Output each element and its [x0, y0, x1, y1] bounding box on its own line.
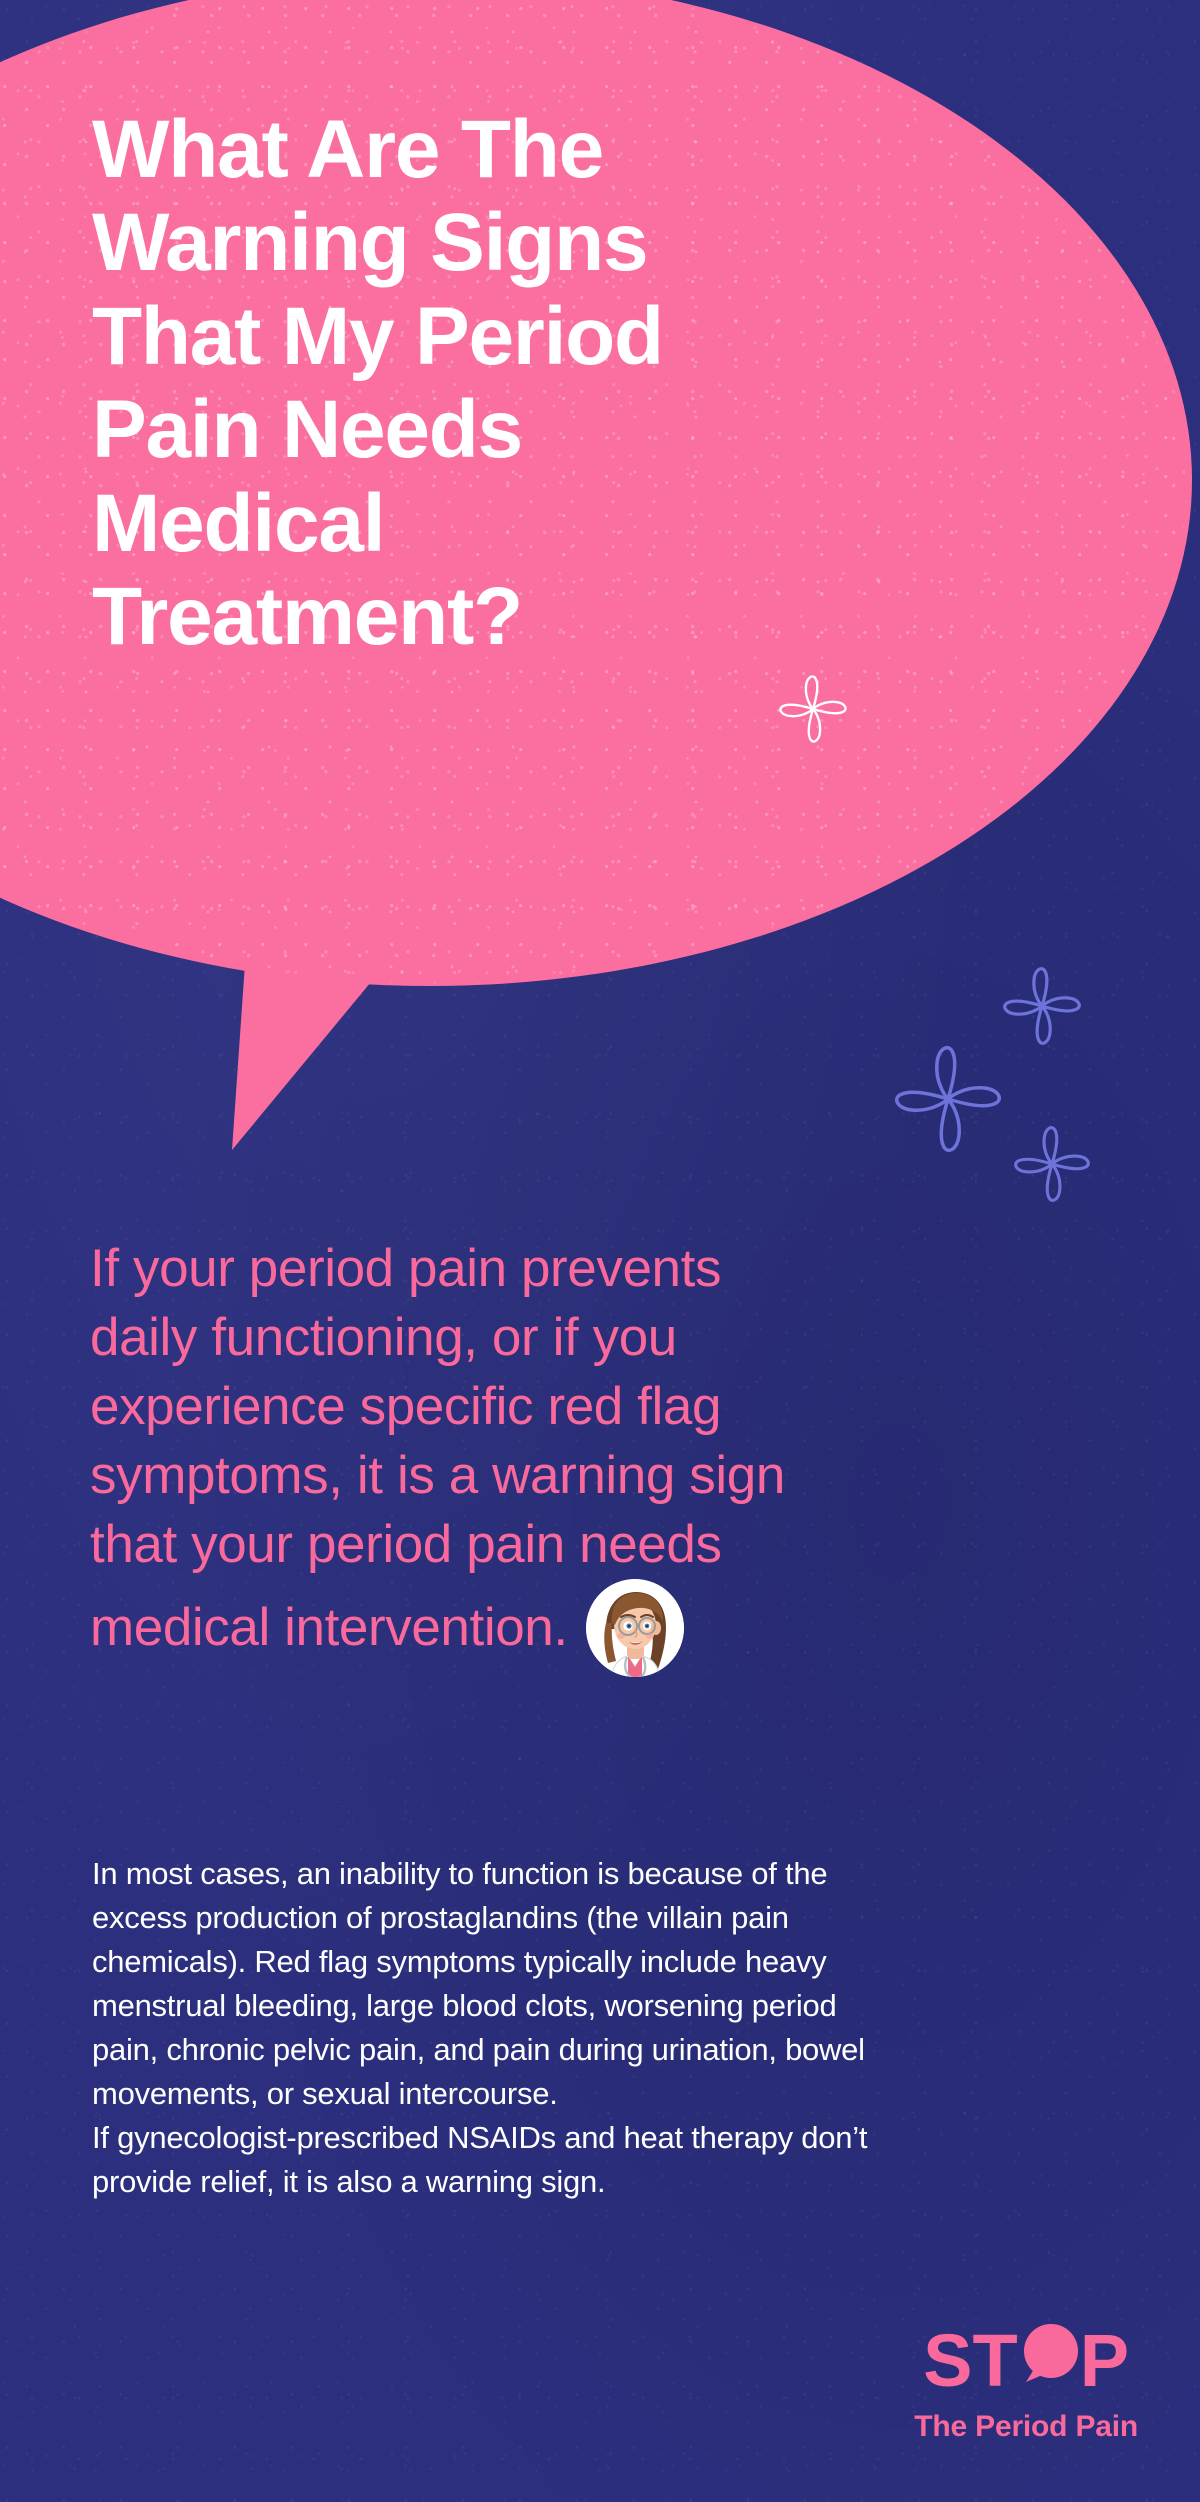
avatar — [586, 1579, 684, 1677]
body-line-3: chemicals). Red flag symptoms typically … — [92, 1940, 1102, 1984]
logo-wordmark: ST P — [914, 2322, 1138, 2400]
logo-tagline: The Period Pain — [914, 2410, 1138, 2444]
body-line-8: provide relief, it is also a warning sig… — [92, 2160, 1102, 2204]
title-line-4: Pain Needs — [92, 383, 732, 476]
lead-line-6: medical intervention. — [90, 1594, 568, 1663]
infographic-poster: What Are The Warning Signs That My Perio… — [0, 0, 1200, 2502]
speech-bubble-icon — [1020, 2322, 1078, 2400]
four-petal-sparkle-icon — [778, 672, 848, 746]
page-title: What Are The Warning Signs That My Perio… — [92, 103, 732, 664]
title-line-2: Warning Signs — [92, 196, 732, 289]
body-line-1: In most cases, an inability to function … — [92, 1852, 1102, 1896]
brand-logo: ST P The Period Pain — [914, 2322, 1138, 2444]
body-paragraph: In most cases, an inability to function … — [92, 1852, 1102, 2204]
title-line-1: What Are The — [92, 103, 732, 196]
four-petal-sparkle-icon — [893, 1040, 1003, 1158]
lead-line-3: experience specific red flag — [90, 1373, 1090, 1442]
body-line-5: pain, chronic pelvic pain, and pain duri… — [92, 2028, 1102, 2072]
lead-line-4: symptoms, it is a warning sign — [90, 1442, 1090, 1511]
title-line-6: Treatment? — [92, 570, 732, 663]
title-line-5: Medical — [92, 477, 732, 570]
body-line-7: If gynecologist-prescribed NSAIDs and he… — [92, 2116, 1102, 2160]
four-petal-sparkle-icon — [1013, 1122, 1091, 1206]
title-line-3: That My Period — [92, 290, 732, 383]
lead-line-6-row: medical intervention. — [90, 1579, 1090, 1677]
lead-paragraph: If your period pain prevents daily funct… — [90, 1235, 1090, 1677]
logo-text-p: P — [1080, 2324, 1129, 2398]
lead-line-1: If your period pain prevents — [90, 1235, 1090, 1304]
body-line-4: menstrual bleeding, large blood clots, w… — [92, 1984, 1102, 2028]
logo-text-st: ST — [923, 2324, 1018, 2398]
body-line-6: movements, or sexual intercourse. — [92, 2072, 1102, 2116]
lead-line-2: daily functioning, or if you — [90, 1304, 1090, 1373]
body-line-2: excess production of prostaglandins (the… — [92, 1896, 1102, 1940]
lead-line-5: that your period pain needs — [90, 1511, 1090, 1580]
four-petal-sparkle-icon — [1002, 963, 1082, 1049]
